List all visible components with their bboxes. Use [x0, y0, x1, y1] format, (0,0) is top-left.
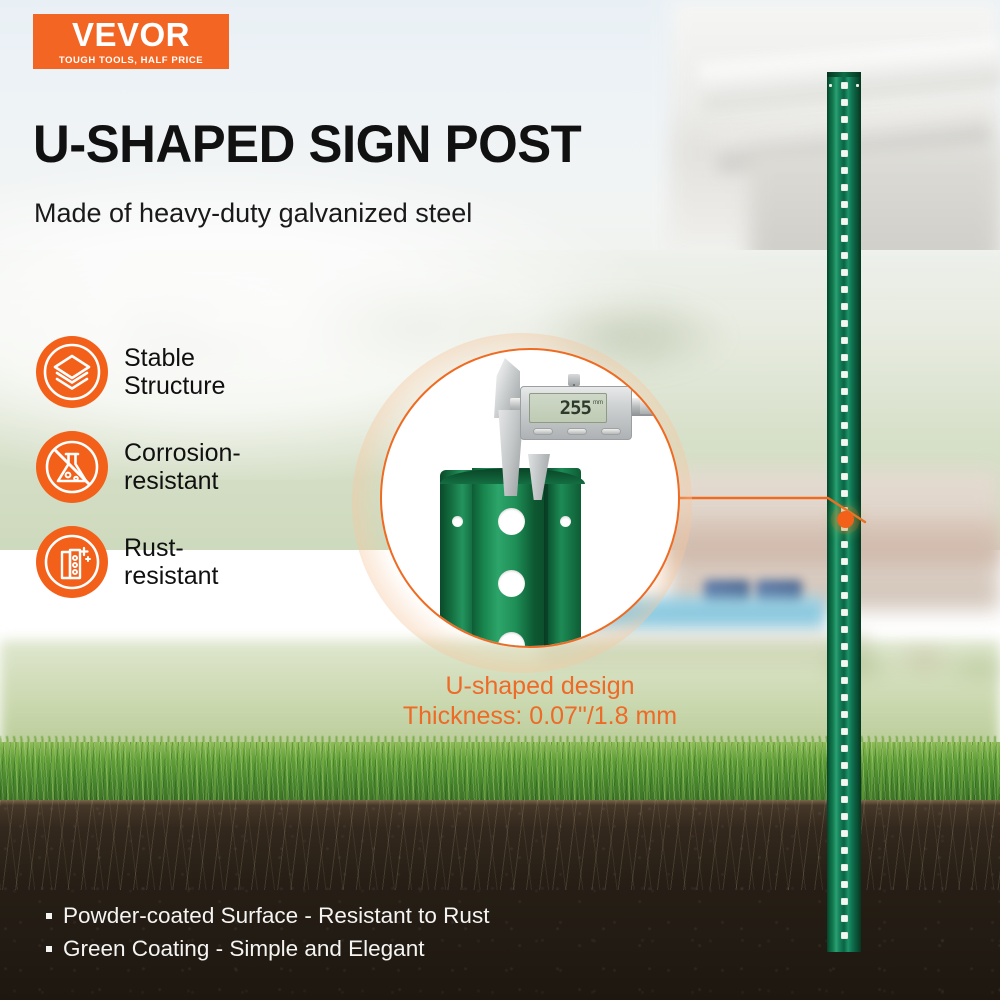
- rust-resistant-post-icon: [36, 526, 108, 598]
- feature-label-line1: Corrosion-: [124, 439, 241, 467]
- post-hole: [841, 881, 848, 888]
- post-hole: [841, 422, 848, 429]
- bullet-list: Powder-coated Surface - Resistant to Rus…: [46, 900, 489, 965]
- feature-label-line1: Rust-: [124, 534, 184, 562]
- feature-label-line2: Structure: [124, 372, 225, 400]
- post-hole: [841, 830, 848, 837]
- channel-right-flange: [548, 468, 581, 648]
- inset-caption: U-shaped design Thickness: 0.07"/1.8 mm: [360, 672, 720, 731]
- feature-stable-structure: Stable Structure: [36, 336, 336, 408]
- post-hole: [841, 592, 848, 599]
- callout-anchor-dot: [837, 511, 854, 528]
- product-marketing-banner: VEVOR TOUGH TOOLS, HALF PRICE U-SHAPED S…: [0, 0, 1000, 1000]
- feature-label: Corrosion- resistant: [124, 439, 241, 495]
- feature-label-line2: resistant: [124, 467, 218, 495]
- post-hole: [841, 218, 848, 225]
- vevor-logo: VEVOR TOUGH TOOLS, HALF PRICE: [33, 14, 229, 69]
- no-corrosion-flask-icon: [36, 431, 108, 503]
- post-hole: [841, 133, 848, 140]
- caliper-unit-label: mm: [593, 400, 603, 406]
- post-hole: [841, 643, 848, 650]
- post-hole: [841, 932, 848, 939]
- post-hole: [841, 575, 848, 582]
- post-hole: [841, 337, 848, 344]
- post-hole: [841, 558, 848, 565]
- channel-hole: [498, 570, 525, 597]
- caption-line-2: Thickness: 0.07"/1.8 mm: [360, 702, 720, 732]
- post-hole: [841, 609, 848, 616]
- post-hole: [841, 762, 848, 769]
- caliper-button-zero[interactable]: [533, 428, 553, 435]
- logo-wordmark: VEVOR: [72, 18, 190, 51]
- layers-stack-icon: [36, 336, 108, 408]
- caliper-depth-rod: [640, 400, 674, 414]
- post-hole: [841, 660, 848, 667]
- digital-caliper: 255 mm: [494, 358, 672, 490]
- post-edge-hole: [856, 84, 859, 87]
- feature-corrosion-resistant: Corrosion- resistant: [36, 431, 336, 503]
- caliper-body: 255 mm: [520, 386, 632, 440]
- post-hole: [841, 354, 848, 361]
- post-hole: [841, 371, 848, 378]
- post-hole: [841, 898, 848, 905]
- feature-rust-resistant: Rust- resistant: [36, 526, 336, 598]
- bullet-item: Powder-coated Surface - Resistant to Rus…: [46, 900, 489, 933]
- post-hole: [841, 728, 848, 735]
- post-hole: [841, 677, 848, 684]
- post-hole: [841, 150, 848, 157]
- post-hole: [841, 796, 848, 803]
- bullet-square-icon: [46, 946, 52, 952]
- channel-side-hole: [452, 516, 463, 527]
- logo-tagline: TOUGH TOOLS, HALF PRICE: [59, 55, 203, 66]
- feature-label: Stable Structure: [124, 344, 225, 400]
- post-hole: [841, 167, 848, 174]
- caliper-thumb-wheel: [662, 414, 680, 432]
- post-hole: [841, 711, 848, 718]
- post-hole: [841, 694, 848, 701]
- caption-line-1: U-shaped design: [360, 672, 720, 702]
- detail-inset-circle: 255 mm: [380, 348, 680, 648]
- post-hole: [841, 99, 848, 106]
- caliper-lcd-display: 255 mm: [529, 393, 607, 423]
- post-hole: [841, 82, 848, 89]
- post-hole: [841, 847, 848, 854]
- feature-label-line1: Stable: [124, 344, 195, 372]
- bullet-text: Green Coating - Simple and Elegant: [63, 933, 424, 966]
- post-hole: [841, 456, 848, 463]
- feature-list: Stable Structure Corrosion- resistant: [36, 336, 336, 621]
- post-hole: [841, 915, 848, 922]
- post-hole: [841, 626, 848, 633]
- post-hole: [841, 745, 848, 752]
- post-hole: [841, 184, 848, 191]
- callout-connector-line: [660, 470, 880, 550]
- post-hole: [841, 252, 848, 259]
- bullet-text: Powder-coated Surface - Resistant to Rus…: [63, 900, 489, 933]
- post-hole: [841, 116, 848, 123]
- bullet-item: Green Coating - Simple and Elegant: [46, 933, 489, 966]
- post-edge-hole: [829, 84, 832, 87]
- page-subtitle: Made of heavy-duty galvanized steel: [34, 198, 472, 229]
- post-hole: [841, 320, 848, 327]
- channel-side-hole: [560, 516, 571, 527]
- feature-label-line2: resistant: [124, 562, 218, 590]
- post-hole: [841, 269, 848, 276]
- caliper-button-onoff[interactable]: [601, 428, 621, 435]
- channel-hole: [498, 508, 525, 535]
- post-hole: [841, 235, 848, 242]
- post-hole: [841, 388, 848, 395]
- post-hole: [841, 405, 848, 412]
- post-hole: [841, 864, 848, 871]
- feature-label: Rust- resistant: [124, 534, 218, 590]
- post-hole: [841, 303, 848, 310]
- post-hole: [841, 286, 848, 293]
- bullet-square-icon: [46, 913, 52, 919]
- post-hole: [841, 779, 848, 786]
- post-hole: [841, 201, 848, 208]
- caliper-reading: 255: [560, 397, 591, 419]
- caliper-button-mode[interactable]: [567, 428, 587, 435]
- post-hole: [841, 813, 848, 820]
- channel-left-flange: [440, 470, 476, 648]
- page-title: U-SHAPED SIGN POST: [33, 118, 581, 171]
- post-hole: [841, 439, 848, 446]
